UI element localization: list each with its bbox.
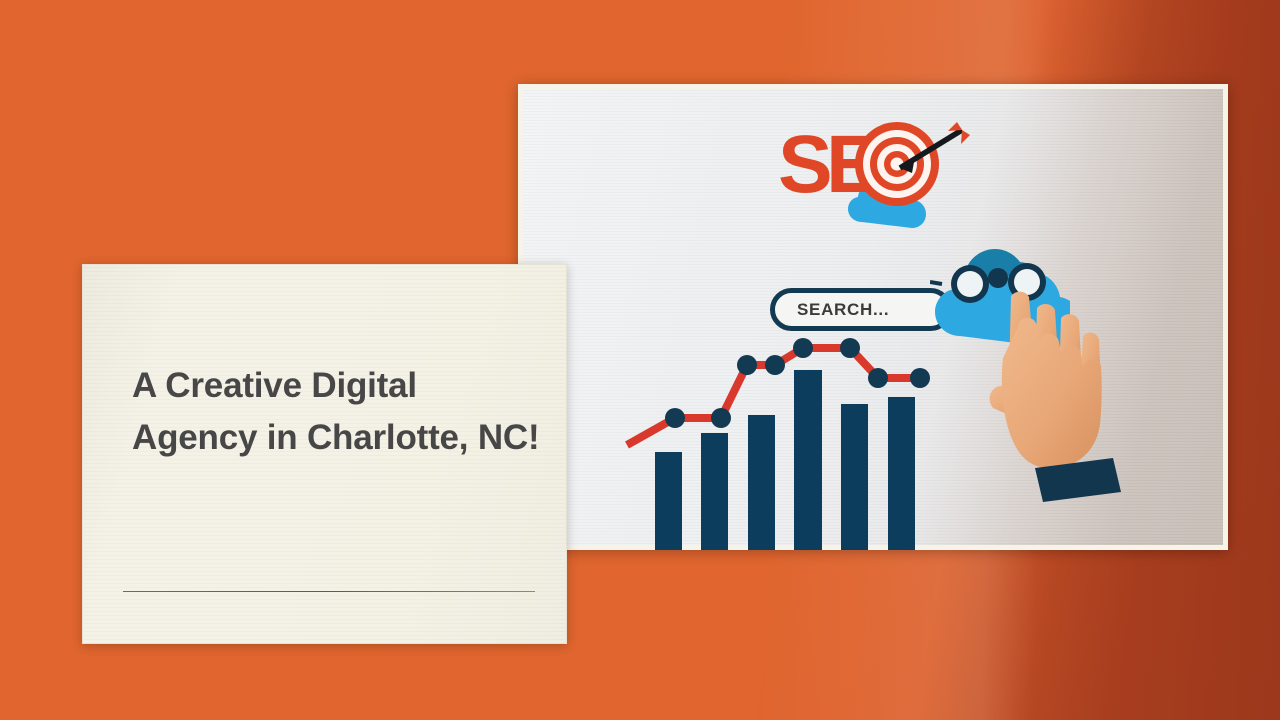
chart-bar (841, 404, 868, 550)
chart-bar (748, 415, 775, 550)
chart-marker (840, 338, 860, 358)
seo-letter-s: S (778, 119, 833, 210)
chart-marker (868, 368, 888, 388)
chart-bar (888, 397, 915, 550)
chart-bar (794, 370, 822, 550)
chart-marker (765, 355, 785, 375)
chart-bar (701, 433, 728, 550)
chart-marker (737, 355, 757, 375)
bullseye-target-icon (855, 122, 939, 206)
panel-divider (123, 591, 535, 592)
binocular-left-lens (957, 271, 983, 297)
growth-chart (620, 335, 930, 550)
cloud-cable (930, 282, 942, 284)
chart-marker (793, 338, 813, 358)
seo-logo: S E (778, 116, 978, 236)
chart-bars (655, 370, 915, 550)
chart-bar (655, 452, 682, 550)
page-title: A Creative Digital Agency in Charlotte, … (132, 360, 542, 464)
chart-marker (665, 408, 685, 428)
search-input[interactable]: SEARCH... (770, 288, 952, 331)
title-card: A Creative Digital Agency in Charlotte, … (82, 264, 567, 644)
chart-marker (711, 408, 731, 428)
pointing-hand-icon (985, 288, 1125, 504)
binocular-bridge (988, 268, 1008, 288)
search-placeholder: SEARCH... (775, 300, 889, 320)
chart-marker (910, 368, 930, 388)
